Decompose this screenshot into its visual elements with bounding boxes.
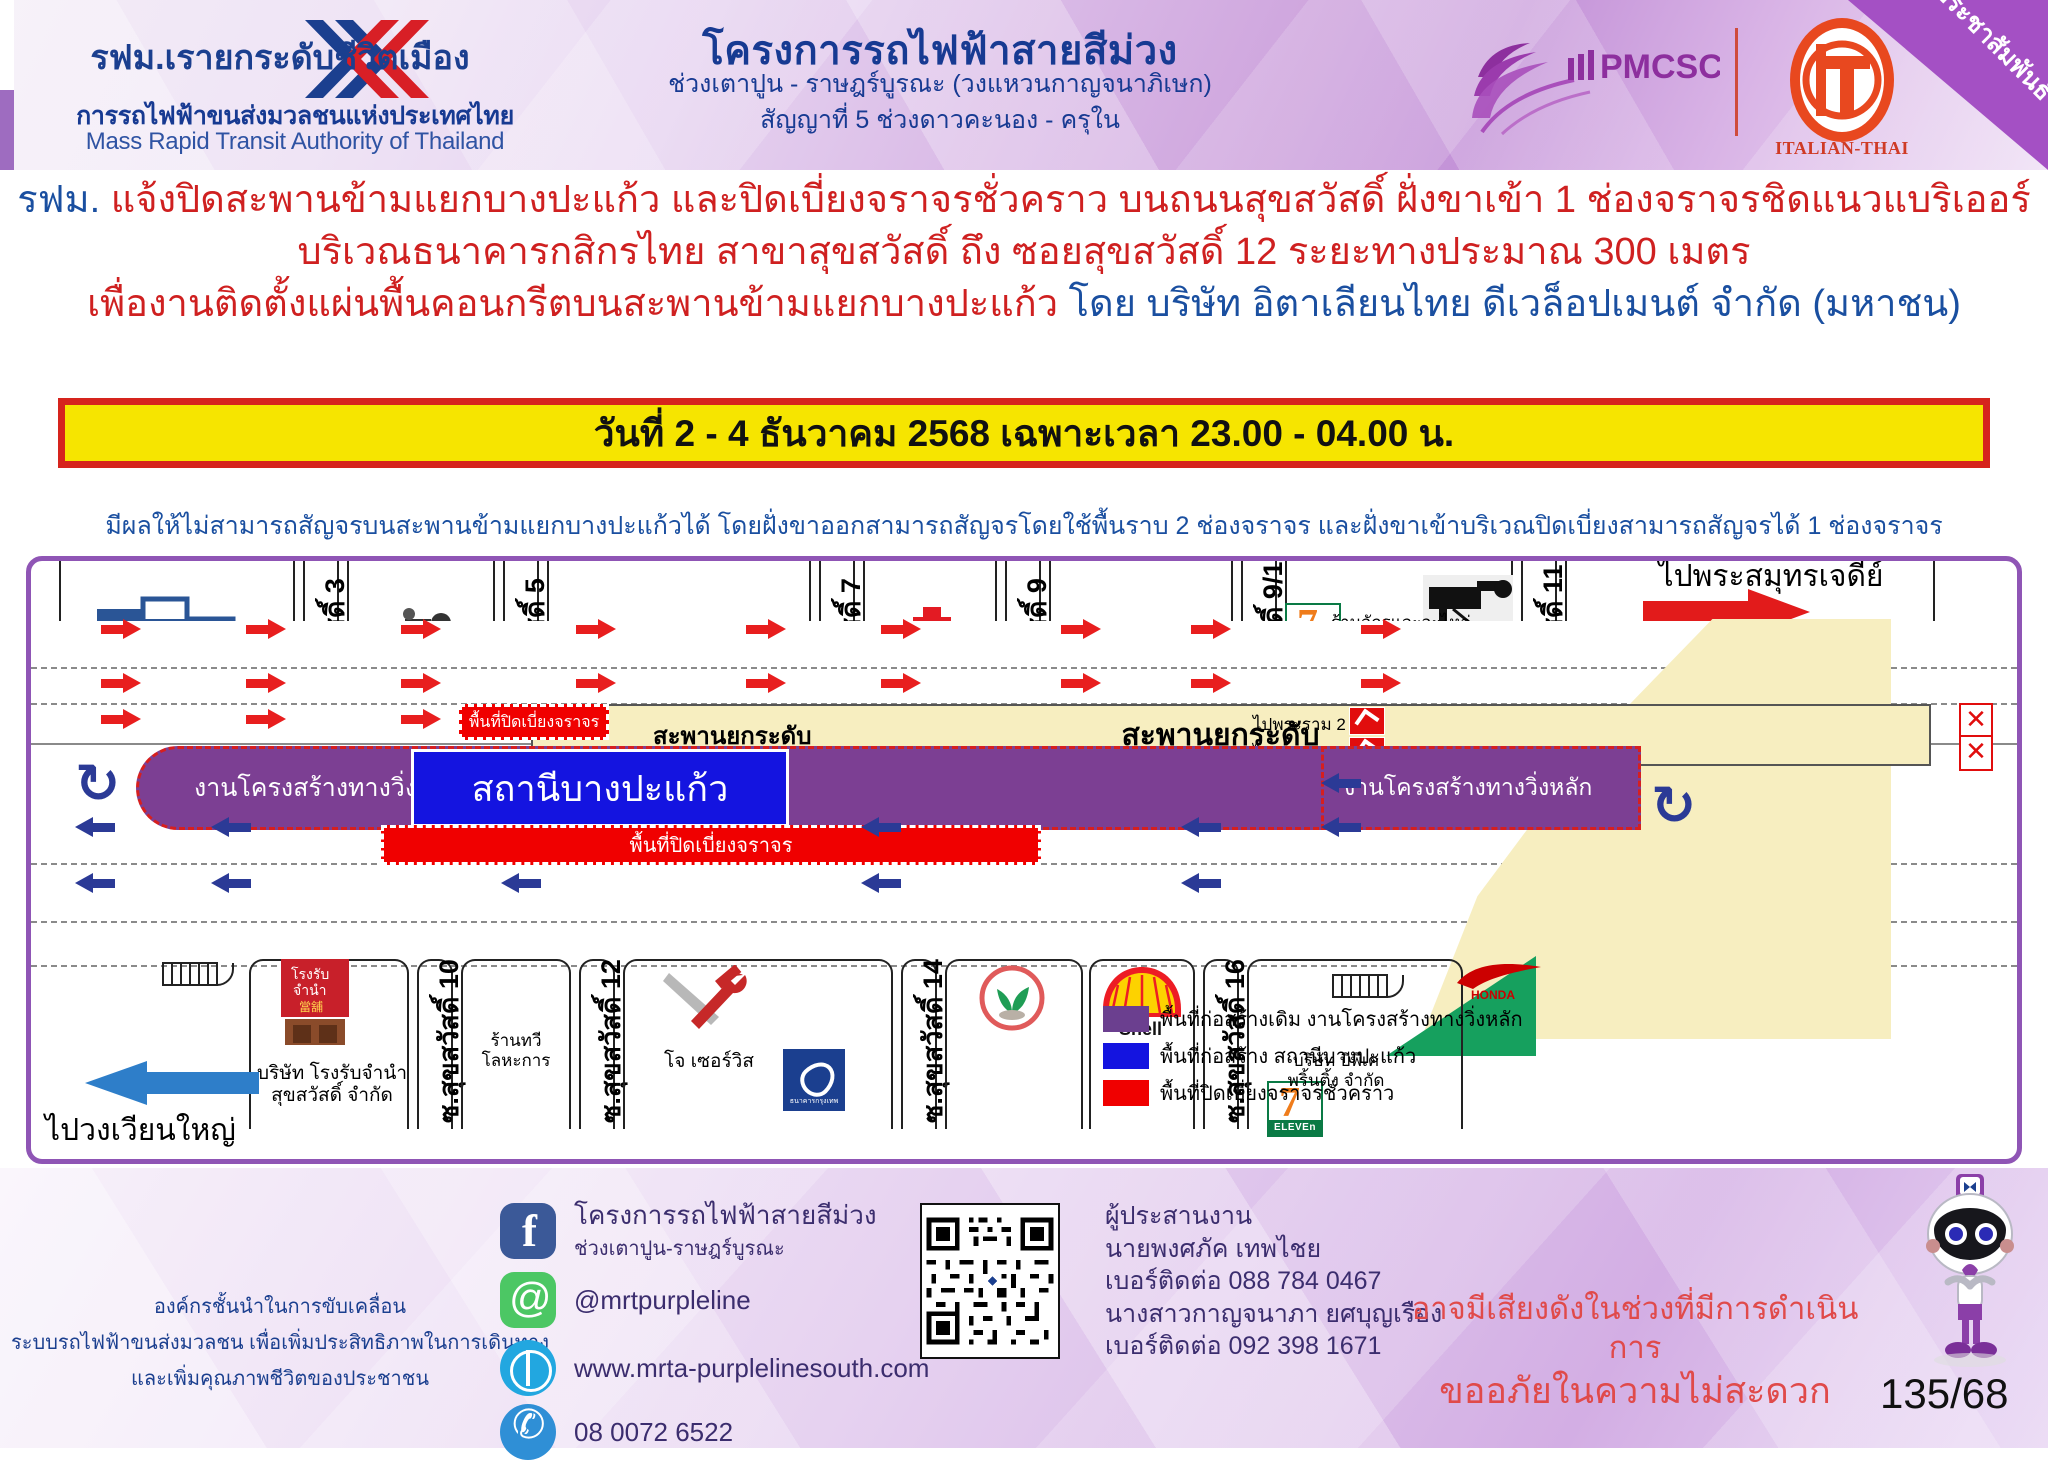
no-entry-marker-1: ✕ [1959,703,1993,739]
legend-label-3: พื้นที่ปิดเบี่ยงจราจรชั่วคราว [1160,1077,1394,1109]
honda-icon: HONDA [1449,961,1549,1006]
traffic-arrow-left [1181,817,1221,837]
facebook-line-2: ช่วงเตาปูน-ราษฎร์บูรณะ [574,1238,785,1260]
date-time-banner: วันที่ 2 - 4 ธันวาคม 2568 เฉพาะเวลา 23.0… [58,398,1990,468]
traffic-arrow-left [75,873,115,893]
facebook-line-1: โครงการรถไฟฟ้าสายสีม่วง [574,1200,877,1230]
mascot-icon [1900,1172,2040,1372]
announcement-line-1: รฟม. แจ้งปิดสะพานข้ามแยกบางปะแก้ว และปิด… [0,176,2048,225]
traffic-arrow-left [861,873,901,893]
station-band: สถานีบางปะแก้ว [411,749,789,827]
traffic-arrow-left [1321,773,1361,793]
line-id-text: @mrtpurpleline [574,1285,751,1316]
announcement-line-2: บริเวณธนาคารกสิกรไทย สาขาสุขสวัสดิ์ ถึง … [0,228,2048,277]
destination-left-arrow-icon [79,1061,259,1105]
traffic-arrow-right [576,619,616,639]
plot-bottom-2-line2: โลหะการ [482,1051,551,1070]
announcement-line-1-text: แจ้งปิดสะพานข้ามแยกบางปะแก้ว และปิดเบี่ย… [111,179,2031,221]
legend-label-1: พื้นที่ก่อสร้างเดิม งานโครงสร้างทางวิ่งห… [1160,1003,1523,1035]
phone-row[interactable]: 08 0072 6522 [500,1404,733,1460]
announcement-line-3: เพื่องานติดตั้งแผ่นพื้นคอนกรีตบนสะพานข้า… [0,280,2048,329]
closure-area-bottom: พื้นที่ปิดเบี่ยงจราจร [381,825,1041,865]
page-number: 135/68 [1880,1370,2008,1418]
u-turn-icon-right: ↻ [1651,779,1696,833]
pedestrian-bridge-icon-bottom [161,957,253,1002]
traffic-diversion-map: m ipsum บริษัท ส.เจริญกิจ การโลหะ(1981) … [26,556,2022,1164]
traffic-arrow-right [401,619,441,639]
date-time-text: วันที่ 2 - 4 ธันวาคม 2568 เฉพาะเวลา 23.0… [594,404,1454,463]
coordinator-2-name: นางสาวกาญจนาภา ยศบุญเรือง [1105,1298,1442,1331]
main-structure-label-right: งานโครงสร้างทางวิ่งหลัก [1344,770,1592,806]
page-header: การรถไฟฟ้าขนส่งมวลชนแห่งประเทศไทย Mass R… [0,0,2048,170]
coordinator-1-phone: เบอร์ติดต่อ 088 784 0467 [1105,1265,1442,1298]
traffic-arrow-right [101,619,141,639]
traffic-arrow-right [246,709,286,729]
announcement-line-3-blue: โดย บริษัท อิตาเลียนไทย ดีเวล็อปเมนต์ จำ… [1069,283,1961,325]
facebook-text: โครงการรถไฟฟ้าสายสีม่วง ช่วงเตาปูน-ราษฎร… [574,1200,877,1261]
globe-icon[interactable] [500,1340,556,1396]
sign-label-rama-1: ไปพระราม 2 [1253,711,1346,738]
traffic-arrow-right [1061,619,1101,639]
traffic-arrow-right [401,673,441,693]
bangkok-bank-wordmark: ธนาคารกรุงเทพ [783,1096,845,1107]
no-entry-marker-2: ✕ [1959,735,1993,771]
apology-line-1: อาจมีเสียงดังในช่วงที่มีการดำเนินการ [1400,1290,1870,1368]
svg-text:จำนำ: จำนำ [293,982,327,998]
traffic-arrow-left [1181,873,1221,893]
destination-left-label: ไปวงเวียนใหญ่ [45,1107,325,1154]
traffic-arrow-right [746,673,786,693]
traffic-arrow-left [1321,817,1361,837]
plot-bottom-2-line1: ร้านทวี [490,1031,541,1050]
legend-swatch-red [1103,1080,1149,1106]
project-subtitle-1: ช่วงเตาปูน - ราษฎร์บูรณะ (วงแหวนกาญจนาภิ… [560,64,1320,104]
legend-swatch-blue [1103,1043,1149,1069]
announcement-line-3-red: เพื่องานติดตั้งแผ่นพื้นคอนกรีตบนสะพานข้า… [87,283,1069,325]
traffic-note: มีผลให้ไม่สามารถสัญจรบนสะพานข้ามแยกบางปะ… [0,506,2048,546]
pawnshop-icon: โรงรับ จำนำ 當舖 [279,957,351,1052]
plot-bottom-1-line1: บริษัท โรงรับจำนำ [257,1063,407,1084]
traffic-arrow-right [1191,673,1231,693]
traffic-arrow-left [861,817,901,837]
phone-icon[interactable] [500,1404,556,1460]
traffic-arrow-right [746,619,786,639]
traffic-arrow-left [211,873,251,893]
coordinator-block: ผู้ประสานงาน นายพงศภัค เทพไชย เบอร์ติดต่… [1105,1200,1442,1363]
legend-item-2: พื้นที่ก่อสร้าง สถานีบางปะแก้ว [1103,1040,1523,1072]
traffic-arrow-right [101,673,141,693]
traffic-arrow-right [1061,673,1101,693]
traffic-arrow-right [101,709,141,729]
bangkok-bank-icon: ธนาคารกรุงเทพ [783,1049,845,1111]
header-left-strip [0,0,14,170]
traffic-arrow-right [1361,619,1401,639]
facebook-row[interactable]: โครงการรถไฟฟ้าสายสีม่วง ช่วงเตาปูน-ราษฎร… [500,1200,877,1261]
legend-item-3: พื้นที่ปิดเบี่ยงจราจรชั่วคราว [1103,1077,1523,1109]
traffic-arrow-right [881,619,921,639]
pmcsc3-logo-icon: PMCSC3 [1460,22,1720,140]
coordinator-2-phone: เบอร์ติดต่อ 092 398 1671 [1105,1330,1442,1363]
plot-bottom-3-label: โจ เซอร์วิส [619,1051,799,1073]
svg-text:PMCSC3: PMCSC3 [1600,48,1720,86]
map-legend: พื้นที่ก่อสร้างเดิม งานโครงสร้างทางวิ่งห… [1103,1003,1523,1114]
apology-line-2: ขออภัยในความไม่สะดวก [1400,1368,1870,1413]
traffic-arrow-right [881,673,921,693]
legend-item-1: พื้นที่ก่อสร้างเดิม งานโครงสร้างทางวิ่งห… [1103,1003,1523,1035]
announcement-line-1-prefix: รฟม. [17,179,110,221]
phone-text: 08 0072 6522 [574,1417,733,1448]
traffic-arrow-right [1361,673,1401,693]
website-row[interactable]: www.mrta-purplelinesouth.com [500,1340,929,1396]
line-row[interactable]: @mrtpurpleline [500,1272,751,1328]
legend-swatch-purple [1103,1006,1149,1032]
traffic-arrow-right [246,619,286,639]
traffic-arrow-right [246,673,286,693]
plot-bottom-1-line2: สุขสวัสดิ์ จำกัด [271,1085,393,1106]
tools-icon [661,965,753,1038]
ptt-station-icon [979,965,1045,1036]
svg-text:โรงรับ: โรงรับ [291,966,329,982]
closure-area-top: พื้นที่ปิดเบี่ยงจราจร [459,704,609,740]
traffic-arrow-right [401,709,441,729]
traffic-arrow-left [211,817,251,837]
traffic-arrow-left [501,873,541,893]
main-structure-band-right: งานโครงสร้างทางวิ่งหลัก [1321,746,1641,830]
traffic-arrow-right [1191,619,1231,639]
plot-bottom-2-label: ร้านทวี โลหะการ [457,1031,575,1070]
footer-slogan: รฟม.เรายกระดับชีวิตเมือง [20,30,540,84]
coordinator-1-name: นายพงศภัค เทพไชย [1105,1233,1442,1266]
header-divider [1735,28,1738,136]
direction-sign-icon-1 [1349,707,1385,735]
seven-eleven-wordmark-bottom: ELEVEn [1269,1120,1321,1135]
svg-text:HONDA: HONDA [1471,988,1515,1001]
coordinator-title: ผู้ประสานงาน [1105,1200,1442,1233]
apology-message: อาจมีเสียงดังในช่วงที่มีการดำเนินการ ขออ… [1400,1290,1870,1413]
legend-label-2: พื้นที่ก่อสร้าง สถานีบางปะแก้ว [1160,1040,1416,1072]
svg-text:當舖: 當舖 [299,999,323,1014]
website-text: www.mrta-purplelinesouth.com [574,1353,929,1384]
agency-name-english: Mass Rapid Transit Authority of Thailand [60,128,530,156]
line-app-icon[interactable] [500,1272,556,1328]
u-turn-icon-left: ↻ [75,757,120,811]
project-subtitle-2: สัญญาที่ 5 ช่วงดาวคะนอง - ครุใน [560,100,1320,140]
traffic-arrow-right [576,673,616,693]
traffic-arrow-left [75,817,115,837]
qr-code[interactable] [920,1203,1060,1359]
facebook-icon[interactable] [500,1203,556,1259]
